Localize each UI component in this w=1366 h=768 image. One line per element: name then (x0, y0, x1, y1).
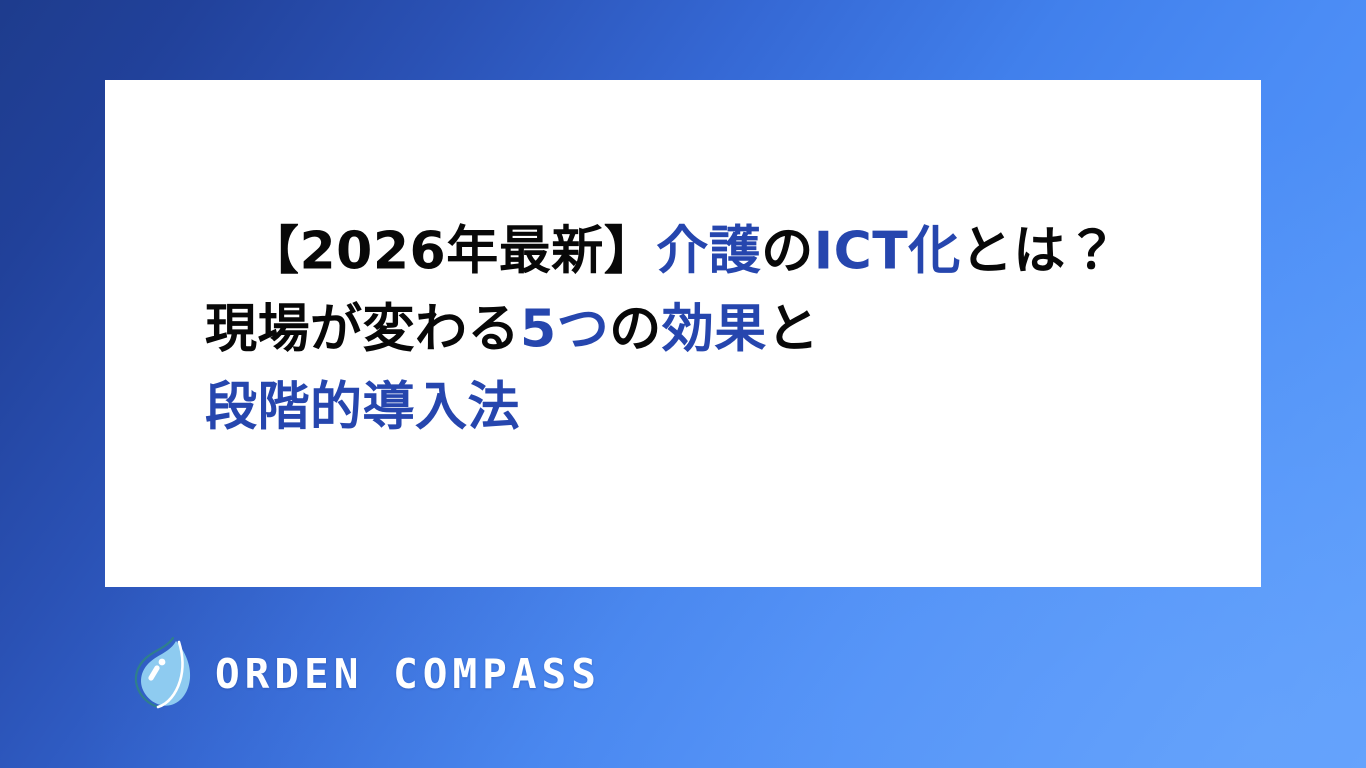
title-segment-accent: 効果 (662, 299, 767, 359)
title-segment: の (761, 221, 814, 281)
title-segment: の (609, 299, 662, 359)
title-segment: とは？ (961, 221, 1119, 281)
brand-logo[interactable]: ORDEN COMPASS (133, 636, 601, 712)
water-droplet-icon (133, 636, 195, 712)
title-segment: 現場が変わる (205, 299, 520, 359)
thumbnail-canvas: 【2026年最新】介護のICT化とは？ 現場が変わる5つの効果と 段階的導入法 … (0, 0, 1366, 768)
title-segment-accent: 段階的導入法 (205, 377, 520, 437)
title-segment-accent: 5つ (520, 299, 609, 359)
title-line-2: 現場が変わる5つの効果と (205, 290, 1215, 368)
title-card: 【2026年最新】介護のICT化とは？ 現場が変わる5つの効果と 段階的導入法 (105, 80, 1261, 587)
title-segment: と (767, 299, 820, 359)
page-title: 【2026年最新】介護のICT化とは？ 現場が変わる5つの効果と 段階的導入法 (205, 212, 1215, 446)
title-line-1: 【2026年最新】介護のICT化とは？ (205, 212, 1215, 290)
title-segment-accent: ICT化 (814, 221, 961, 281)
title-segment-accent: 介護 (656, 221, 761, 281)
title-segment: 【2026年最新】 (247, 221, 656, 281)
brand-wordmark: ORDEN COMPASS (215, 654, 601, 695)
title-line-3: 段階的導入法 (205, 368, 1215, 446)
